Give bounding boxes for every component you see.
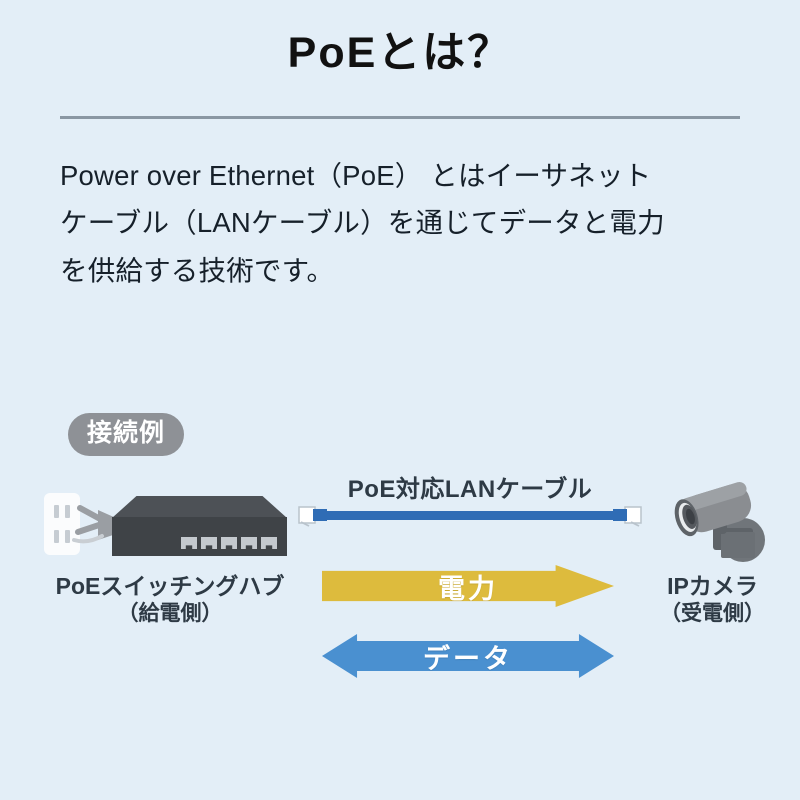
section-badge: 接続例 bbox=[68, 413, 184, 456]
rj45-connector-icon bbox=[613, 503, 643, 527]
lan-cable bbox=[318, 511, 618, 520]
device-label-sub: （給電側） bbox=[30, 601, 310, 627]
device-label-main: PoEスイッチングハブ bbox=[30, 572, 310, 601]
ip-camera-icon bbox=[655, 474, 775, 564]
device-label-main: IPカメラ bbox=[630, 572, 795, 601]
intro-paragraph: Power over Ethernet（PoE） とはイーサネット ケーブル（L… bbox=[60, 152, 750, 294]
page-title: PoEとは？ bbox=[0, 28, 800, 80]
power-flow-label: 電力 bbox=[438, 567, 498, 606]
power-flow-arrow: 電力 bbox=[322, 565, 614, 607]
header-divider bbox=[60, 116, 740, 119]
intro-line-3: を供給する技術です。 bbox=[60, 247, 750, 294]
device-label-sub: （受電側） bbox=[630, 601, 795, 627]
poe-infographic: PoEとは？ Power over Ethernet（PoE） とはイーサネット… bbox=[0, 0, 800, 800]
cable-label: PoE対応LANケーブル bbox=[280, 469, 660, 504]
intro-line-1: Power over Ethernet（PoE） とはイーサネット bbox=[60, 152, 750, 199]
intro-line-2: ケーブル（LANケーブル）を通じてデータと電力 bbox=[60, 199, 750, 246]
label-poe-switching-hub: PoEスイッチングハブ （給電側） bbox=[30, 572, 310, 627]
data-flow-label: データ bbox=[423, 637, 513, 676]
label-ip-camera: IPカメラ （受電側） bbox=[630, 572, 795, 627]
rj45-connector-icon bbox=[297, 503, 327, 527]
